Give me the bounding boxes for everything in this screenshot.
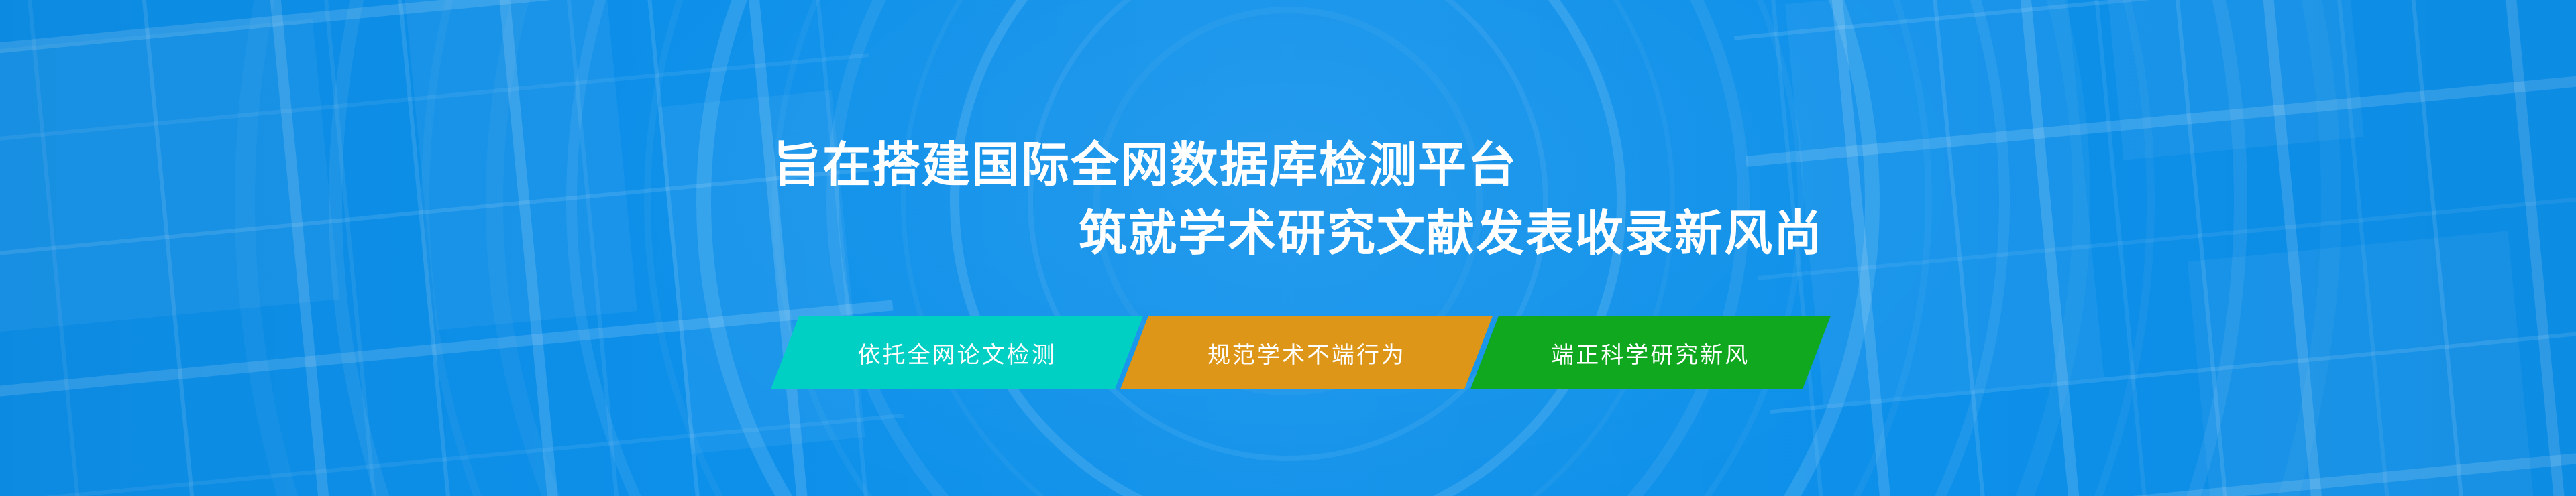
feature-tag-3[interactable]: 端正科学研究新风 [1485,316,1817,389]
grid-line-horizontal [1734,0,2576,40]
grid-line-horizontal [1770,313,2576,414]
feature-tag-2[interactable]: 规范学术不端行为 [1134,316,1479,389]
feature-tag-strip: 依托全网论文检测 规范学术不端行为 端正科学研究新风 [770,316,1817,389]
feature-tag-1[interactable]: 依托全网论文检测 [785,316,1129,389]
grid-block [2188,231,2534,496]
grid-line-horizontal [0,0,861,67]
feature-tag-2-label: 规范学术不端行为 [1207,336,1406,369]
feature-tag-1-label: 依托全网论文检测 [858,336,1057,369]
headline-line-1: 旨在搭建国际全网数据库检测平台 [0,131,2576,200]
grid-line-horizontal [0,300,893,407]
headline-line-2: 筑就学术研究文献发表收录新风尚 [0,200,2576,268]
feature-tag-3-label: 端正科学研究新风 [1551,336,1750,369]
banner-headline: 旨在搭建国际全网数据库检测平台 筑就学术研究文献发表收录新风尚 [0,131,2576,268]
grid-line-horizontal [0,414,904,496]
grid-line-horizontal [1782,434,2576,496]
promo-banner: 旨在搭建国际全网数据库检测平台 筑就学术研究文献发表收录新风尚 依托全网论文检测… [0,0,2576,496]
